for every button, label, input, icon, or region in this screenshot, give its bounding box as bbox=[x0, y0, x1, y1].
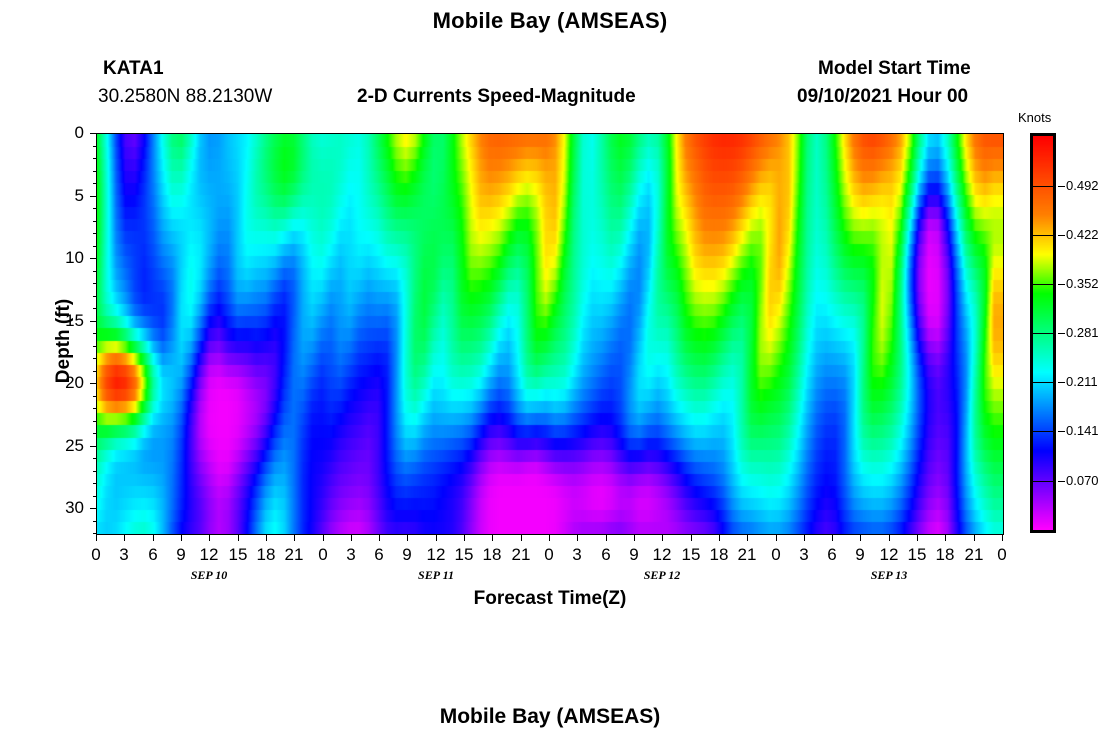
heatmap-canvas bbox=[97, 134, 1003, 534]
chart-subtitle: 2-D Currents Speed-Magnitude bbox=[357, 86, 636, 108]
y-tick-minor bbox=[93, 171, 97, 172]
colorbar-separator bbox=[1033, 481, 1053, 482]
x-tick-major bbox=[634, 534, 635, 541]
x-tick-major bbox=[776, 534, 777, 541]
y-tick-minor bbox=[93, 283, 97, 284]
colorbar-separator bbox=[1033, 186, 1053, 187]
y-tick-label: 20 bbox=[44, 373, 84, 393]
y-tick-label: 10 bbox=[44, 248, 84, 268]
x-tick-major bbox=[747, 534, 748, 541]
y-tick-minor bbox=[93, 521, 97, 522]
x-tick-major bbox=[719, 534, 720, 541]
x-day-label: SEP 10 bbox=[164, 568, 254, 583]
colorbar-tick bbox=[1058, 284, 1065, 285]
x-tick-major bbox=[492, 534, 493, 541]
y-tick-minor bbox=[93, 346, 97, 347]
colorbar-separator bbox=[1033, 382, 1053, 383]
y-tick-minor bbox=[93, 471, 97, 472]
x-tick-major bbox=[1002, 534, 1003, 541]
colorbar-tick-label: 0.492 bbox=[1066, 178, 1099, 193]
y-tick-major bbox=[90, 383, 97, 384]
station-id-label: KATA1 bbox=[103, 58, 164, 80]
y-tick-major bbox=[90, 133, 97, 134]
y-tick-major bbox=[90, 508, 97, 509]
x-tick-major bbox=[606, 534, 607, 541]
y-tick-minor bbox=[93, 333, 97, 334]
x-day-label: SEP 13 bbox=[844, 568, 934, 583]
model-start-time-label: Model Start Time bbox=[818, 58, 971, 80]
x-tick-major bbox=[804, 534, 805, 541]
x-tick-major bbox=[577, 534, 578, 541]
y-tick-major bbox=[90, 258, 97, 259]
heatmap-plot-area bbox=[96, 133, 1004, 535]
y-tick-major bbox=[90, 196, 97, 197]
x-tick-major bbox=[209, 534, 210, 541]
x-tick-major bbox=[945, 534, 946, 541]
y-tick-label: 5 bbox=[44, 186, 84, 206]
x-tick-major bbox=[464, 534, 465, 541]
y-tick-minor bbox=[93, 358, 97, 359]
colorbar-separator bbox=[1033, 333, 1053, 334]
x-day-label: SEP 11 bbox=[391, 568, 481, 583]
x-tick-major bbox=[351, 534, 352, 541]
x-tick-major bbox=[662, 534, 663, 541]
x-tick-major bbox=[521, 534, 522, 541]
x-tick-major bbox=[323, 534, 324, 541]
colorbar-tick-label: 0.070 bbox=[1066, 473, 1099, 488]
x-tick-major bbox=[153, 534, 154, 541]
colorbar-tick bbox=[1058, 235, 1065, 236]
colorbar-tick-label: 0.141 bbox=[1066, 423, 1099, 438]
y-tick-minor bbox=[93, 483, 97, 484]
colorbar-separator bbox=[1033, 284, 1053, 285]
y-tick-label: 15 bbox=[44, 311, 84, 331]
y-tick-minor bbox=[93, 296, 97, 297]
x-day-label: SEP 12 bbox=[617, 568, 707, 583]
colorbar-tick-label: 0.422 bbox=[1066, 227, 1099, 242]
colorbar-tick bbox=[1058, 382, 1065, 383]
x-tick-major bbox=[832, 534, 833, 541]
model-start-time-value: 09/10/2021 Hour 00 bbox=[797, 86, 968, 108]
x-tick-major bbox=[917, 534, 918, 541]
y-tick-major bbox=[90, 446, 97, 447]
y-tick-minor bbox=[93, 458, 97, 459]
colorbar-tick-label: 0.352 bbox=[1066, 276, 1099, 291]
y-tick-label: 0 bbox=[44, 123, 84, 143]
x-tick-major bbox=[974, 534, 975, 541]
y-tick-minor bbox=[93, 308, 97, 309]
y-tick-minor bbox=[93, 183, 97, 184]
y-tick-minor bbox=[93, 246, 97, 247]
x-tick-major bbox=[549, 534, 550, 541]
x-tick-major bbox=[96, 534, 97, 541]
x-tick-major bbox=[436, 534, 437, 541]
x-tick-major bbox=[889, 534, 890, 541]
y-tick-minor bbox=[93, 496, 97, 497]
y-tick-minor bbox=[93, 408, 97, 409]
y-tick-label: 25 bbox=[44, 436, 84, 456]
x-tick-major bbox=[266, 534, 267, 541]
y-tick-minor bbox=[93, 158, 97, 159]
x-tick-major bbox=[181, 534, 182, 541]
colorbar-tick bbox=[1058, 186, 1065, 187]
colorbar-tick-label: 0.281 bbox=[1066, 325, 1099, 340]
y-tick-minor bbox=[93, 271, 97, 272]
x-tick-major bbox=[860, 534, 861, 541]
x-tick-major bbox=[238, 534, 239, 541]
x-tick-major bbox=[407, 534, 408, 541]
x-tick-label: 0 bbox=[982, 545, 1022, 565]
y-tick-major bbox=[90, 321, 97, 322]
y-tick-minor bbox=[93, 371, 97, 372]
y-tick-minor bbox=[93, 146, 97, 147]
x-tick-major bbox=[294, 534, 295, 541]
y-tick-label: 30 bbox=[44, 498, 84, 518]
x-tick-major bbox=[691, 534, 692, 541]
y-tick-minor bbox=[93, 396, 97, 397]
y-tick-minor bbox=[93, 233, 97, 234]
y-tick-minor bbox=[93, 208, 97, 209]
colorbar-separator bbox=[1033, 431, 1053, 432]
colorbar-separator bbox=[1033, 235, 1053, 236]
x-tick-major bbox=[379, 534, 380, 541]
colorbar-tick bbox=[1058, 333, 1065, 334]
colorbar-tick bbox=[1058, 481, 1065, 482]
colorbar-tick-label: 0.211 bbox=[1066, 374, 1098, 389]
y-tick-minor bbox=[93, 421, 97, 422]
colorbar-tick bbox=[1058, 431, 1065, 432]
station-coordinates-label: 30.2580N 88.2130W bbox=[98, 86, 272, 108]
y-tick-minor bbox=[93, 221, 97, 222]
x-axis-title: Forecast Time(Z) bbox=[0, 588, 1100, 610]
footer-title: Mobile Bay (AMSEAS) bbox=[0, 705, 1100, 729]
page-title: Mobile Bay (AMSEAS) bbox=[0, 8, 1100, 34]
x-tick-major bbox=[124, 534, 125, 541]
y-tick-minor bbox=[93, 433, 97, 434]
colorbar-title: Knots bbox=[1018, 110, 1051, 125]
